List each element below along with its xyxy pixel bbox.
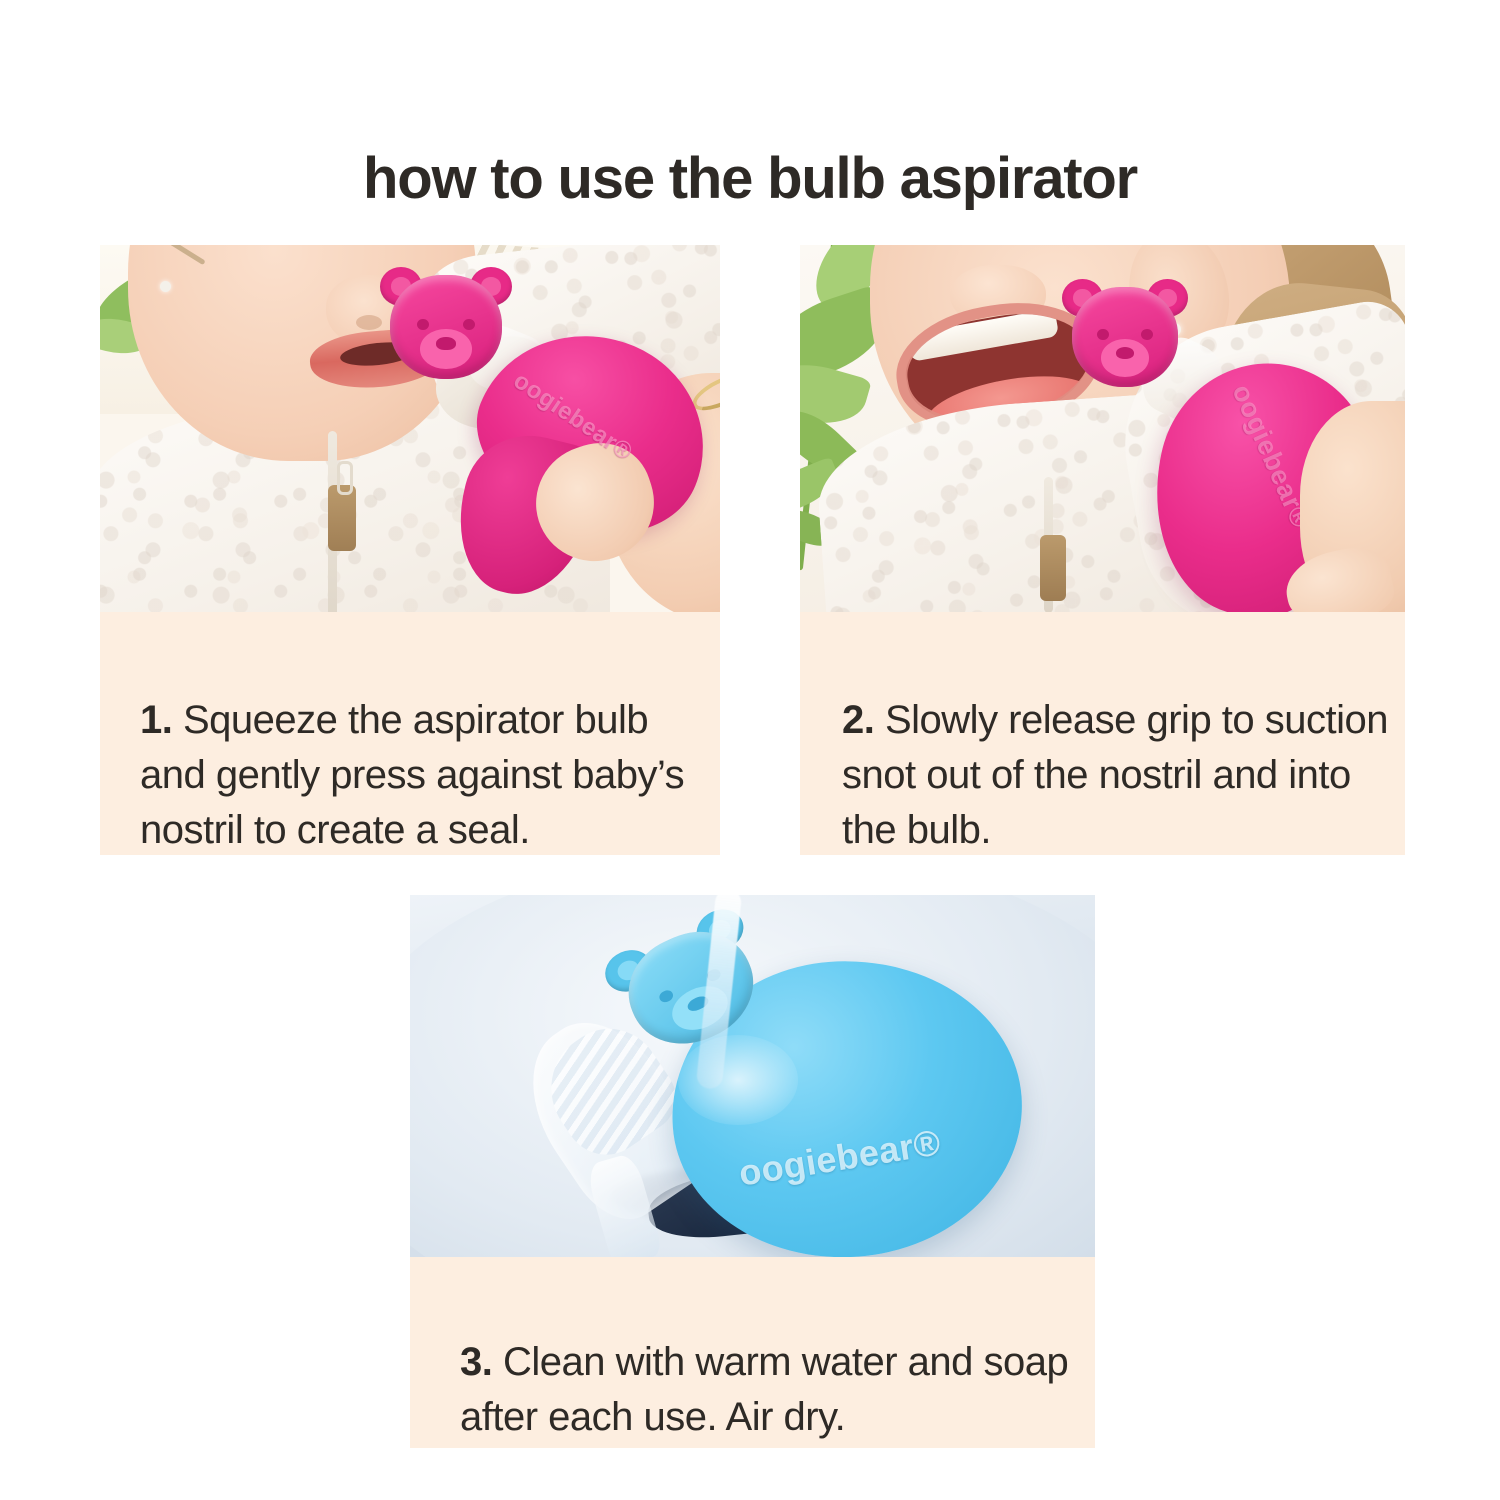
water-splash: [678, 1035, 798, 1125]
bear-nose-icon: [1116, 347, 1134, 359]
step-2-caption: 2. Slowly release grip to suction snot o…: [800, 693, 1405, 855]
bear-nozzle-tip-icon: [1072, 287, 1178, 387]
step-card-3: oogiebear® 3. Clean with warm water and …: [410, 895, 1095, 1448]
bear-nozzle-tip-icon: [390, 275, 502, 379]
step-3-number: 3.: [460, 1340, 492, 1384]
step-card-2: oogiebear® 2. Slowly release grip to suc…: [800, 245, 1405, 855]
bear-eye-right-icon: [1141, 329, 1153, 340]
page-title: how to use the bulb aspirator: [0, 147, 1500, 211]
baby-nostril: [356, 315, 382, 330]
step-1-caption: 1. Squeeze the aspirator bulb and gently…: [100, 693, 720, 855]
step-card-1: oogiebear® 1. Squeeze the aspirator bulb…: [100, 245, 720, 855]
step-2-photo: oogiebear®: [800, 245, 1405, 612]
step-2-text: Slowly release grip to suction snot out …: [842, 698, 1388, 852]
zipper-pull: [328, 485, 356, 551]
photo-1-scene: oogiebear®: [100, 245, 720, 612]
step-1-number: 1.: [140, 698, 172, 742]
earring: [160, 281, 171, 292]
step-1-photo: oogiebear®: [100, 245, 720, 612]
bear-nose-icon: [436, 337, 455, 349]
zipper-pull: [1040, 535, 1066, 601]
photo-3-scene: oogiebear®: [410, 895, 1095, 1257]
step-3-text: Clean with warm water and soap after eac…: [460, 1340, 1068, 1439]
photo-2-scene: oogiebear®: [800, 245, 1405, 612]
step-1-text: Squeeze the aspirator bulb and gently pr…: [140, 698, 684, 852]
step-3-caption: 3. Clean with warm water and soap after …: [410, 1335, 1095, 1445]
step-3-photo: oogiebear®: [410, 895, 1095, 1257]
step-2-number: 2.: [842, 698, 874, 742]
